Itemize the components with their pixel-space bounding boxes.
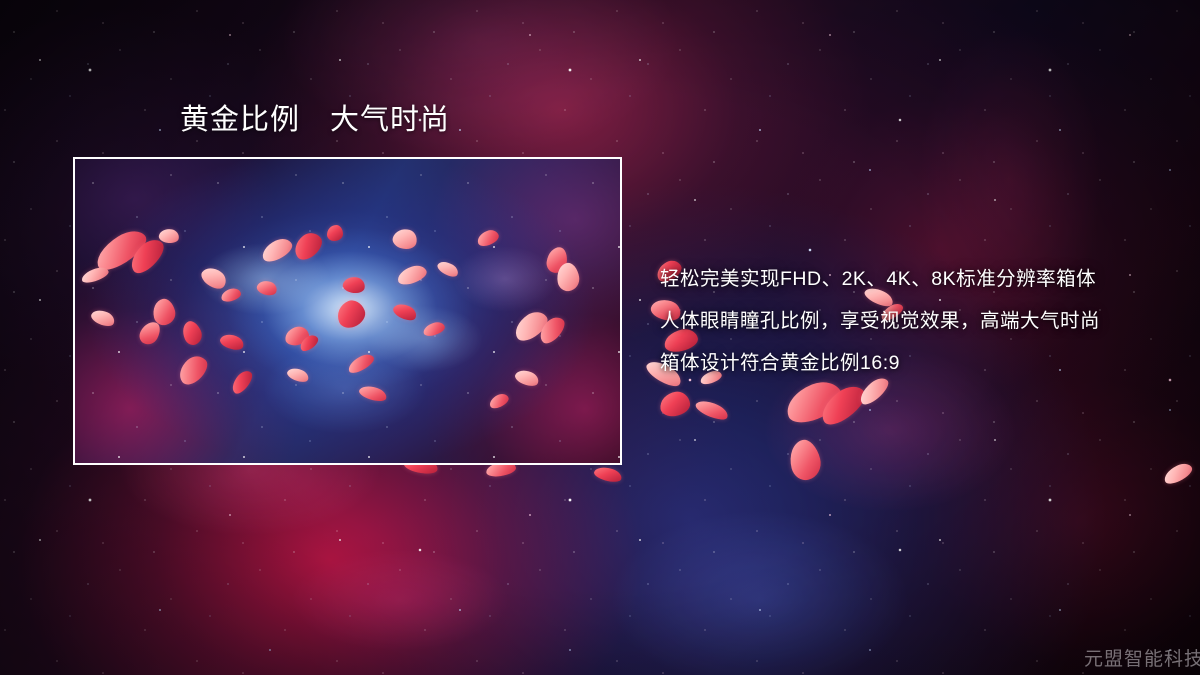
body-line-1: 轻松完美实现FHD、2K、4K、8K标准分辨率箱体	[660, 258, 1180, 300]
body-text-block: 轻松完美实现FHD、2K、4K、8K标准分辨率箱体 人体眼睛瞳孔比例，享受视觉效…	[660, 258, 1180, 384]
flower-petal	[1161, 460, 1195, 487]
flower-petal	[593, 464, 623, 484]
body-line-3: 箱体设计符合黄金比例16:9	[660, 342, 1180, 384]
flower-petal	[658, 390, 691, 418]
page-title: 黄金比例 大气时尚	[180, 102, 450, 138]
image-panel[interactable]	[73, 157, 622, 465]
watermark-logo-text: 元盟智能科技	[1084, 644, 1200, 671]
panel-starfield	[75, 159, 620, 463]
flower-petal	[815, 380, 871, 430]
flower-petal	[694, 397, 731, 424]
presentation-slide: 黄金比例 大气时尚 轻松完美实现FHD、2K、4K、8K标准分辨率箱体 人体眼睛…	[0, 0, 1200, 675]
flower-petal	[786, 437, 825, 483]
body-line-2: 人体眼睛瞳孔比例，享受视觉效果，高端大气时尚	[660, 300, 1180, 342]
